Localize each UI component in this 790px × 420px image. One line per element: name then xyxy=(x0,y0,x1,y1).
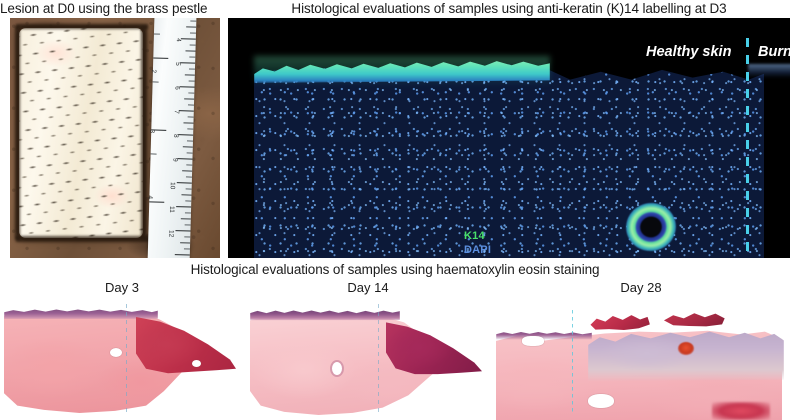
ruler-number: 10 xyxy=(169,182,176,189)
channel-label-dapi: DAPI xyxy=(464,244,491,256)
ruler-number: 6 xyxy=(173,86,180,90)
hemorrhage-focus xyxy=(678,342,694,355)
ruler-number: 5 xyxy=(174,62,181,66)
healthy-burned-divider xyxy=(126,304,127,416)
he-micrograph-day3 xyxy=(0,296,244,420)
charred-edge-bottom xyxy=(16,236,150,242)
photo-panel-title: Lesion at D0 using the brass pestle xyxy=(0,1,207,16)
charred-edge-left xyxy=(15,26,20,240)
measuring-ruler: 2 3 4 4 5 6 7 8 9 10 11 12 xyxy=(147,18,196,258)
scab-crust-left xyxy=(588,312,650,334)
hair-follicle-lumen xyxy=(192,360,201,367)
healthy-burned-divider xyxy=(746,38,749,258)
scab-crust-right xyxy=(660,310,726,330)
lesion-photograph: 2 3 4 4 5 6 7 8 9 10 11 12 xyxy=(10,18,220,258)
he-micrograph-day14 xyxy=(246,296,490,420)
hair-follicle-lumen xyxy=(110,348,122,357)
burn-lesion-rectangle xyxy=(19,28,143,238)
tissue-vacuole xyxy=(588,394,614,408)
ruler-number: 12 xyxy=(167,230,174,237)
ruler-number: 11 xyxy=(168,206,175,213)
ruler-number: 8 xyxy=(172,134,179,138)
he-row-title: Histological evaluations of samples usin… xyxy=(0,262,790,277)
ruler-number: 4 xyxy=(175,38,182,42)
day-label-14: Day 14 xyxy=(246,280,490,295)
fluorescence-panel-title: Histological evaluations of samples usin… xyxy=(228,1,790,16)
ruler-number: 4 xyxy=(146,195,153,199)
healthy-burned-divider xyxy=(572,310,573,414)
ruler-number: 7 xyxy=(173,110,180,114)
day-label-28: Day 28 xyxy=(492,280,790,295)
day-label-3: Day 3 xyxy=(0,280,244,295)
fluorescence-healthy-skin-label: Healthy skin xyxy=(646,44,731,60)
healthy-epidermis-band xyxy=(496,330,592,340)
he-micrograph-day28 xyxy=(492,296,790,420)
hair-follicle-lumen xyxy=(332,362,342,375)
fluorescence-micrograph: Healthy skin Burned skin 500µm K14 DAPI xyxy=(228,18,790,258)
ruler-number: 3 xyxy=(148,129,155,133)
charred-edge-right xyxy=(141,26,147,240)
fluorescence-burned-skin-label: Burned skin xyxy=(758,44,790,60)
healthy-burned-divider xyxy=(378,304,379,416)
channel-label-k14: K14 xyxy=(464,230,485,242)
ruler-number: 9 xyxy=(171,158,178,162)
tissue-vacuole xyxy=(522,336,544,346)
hair-follicle-pattern-secondary xyxy=(19,28,143,238)
deep-blood-vessel-region xyxy=(712,402,770,420)
dapi-nuclei-speckle xyxy=(254,62,764,258)
healthy-epidermis-band xyxy=(4,308,158,320)
dapi-stained-dermis xyxy=(254,62,764,258)
charred-edge-top xyxy=(16,24,148,29)
burned-surface-layer xyxy=(748,64,790,78)
ruler-number: 2 xyxy=(150,69,157,73)
figure-root: Lesion at D0 using the brass pestle Hist… xyxy=(0,0,790,420)
